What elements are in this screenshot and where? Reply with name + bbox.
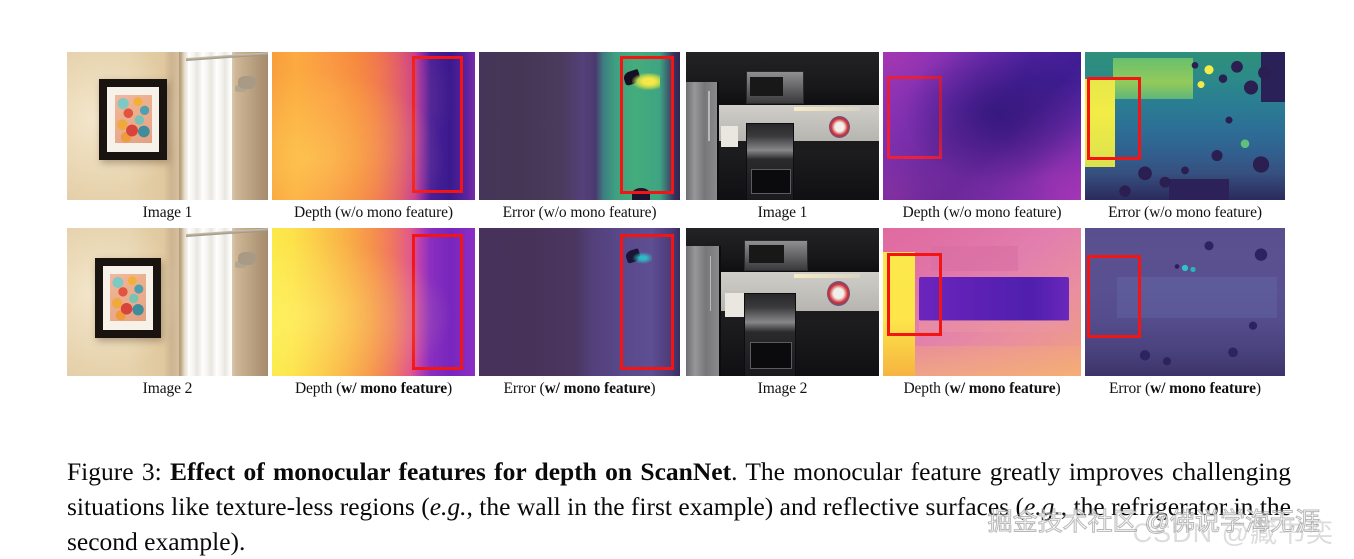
panel-caption-error-wo-mono-kitchen: Error (w/o mono feature) — [1085, 200, 1285, 224]
panel-grid: Image 1 Depth (w/o mono feature) Error (… — [67, 52, 1288, 400]
caption-bold: w/ mono feature — [1150, 380, 1256, 397]
panel-caption-error-w-mono-bathroom: Error (w/ mono feature) — [479, 376, 680, 400]
depth-refrigerator-near — [883, 252, 915, 376]
figure-body-2: , the wall in the first example) and ref… — [467, 492, 1024, 521]
figure-eg-2: e.g. — [1024, 492, 1061, 521]
microwave-door — [749, 245, 785, 263]
caption-bold: w/ mono feature — [341, 380, 447, 397]
panel-cell-depth-wo-mono-bathroom[interactable]: Depth (w/o mono feature) — [272, 52, 475, 224]
framed-artwork — [99, 79, 167, 160]
panel-cell-depth-wo-mono-kitchen[interactable]: Depth (w/o mono feature) — [883, 52, 1081, 224]
panel-cell-depth-w-mono-bathroom[interactable]: Depth (w/ mono feature) — [272, 228, 475, 400]
artwork-canvas — [110, 274, 146, 321]
artwork-mat — [107, 87, 159, 152]
caption-prefix: Depth ( — [903, 380, 949, 397]
image-2-bathroom-photo[interactable] — [67, 228, 268, 376]
error-w-mono-kitchen-heatmap[interactable] — [1085, 228, 1285, 376]
depth-countertop — [919, 320, 1073, 332]
microwave — [746, 71, 804, 104]
depth-far-cabinets — [919, 277, 1069, 321]
figure-title: Effect of monocular features for depth o… — [170, 457, 731, 486]
figure-3-root: Image 1 Depth (w/o mono feature) Error (… — [0, 0, 1354, 552]
microwave-door — [750, 77, 782, 96]
caption-suffix: ) — [447, 380, 452, 397]
refrigerator — [686, 246, 721, 376]
error-dark-artifact-bottom — [632, 188, 650, 200]
error-speckle-noise — [1085, 228, 1285, 376]
red-highlight-box — [887, 76, 942, 159]
oven-window — [750, 342, 792, 369]
panel-caption-image-2-bathroom: Image 2 — [67, 376, 268, 400]
panel-caption-depth-wo-mono-kitchen: Depth (w/o mono feature) — [883, 200, 1081, 224]
panel-row-2: Image 2 Depth (w/ mono feature) Error (w… — [67, 228, 1288, 400]
depth-upper-cabinets — [931, 246, 1018, 271]
panel-cell-error-w-mono-kitchen[interactable]: Error (w/ mono feature) — [1085, 228, 1285, 400]
image-2-kitchen-photo[interactable] — [686, 228, 879, 376]
depth-w-mono-kitchen-heatmap[interactable] — [883, 228, 1081, 376]
paper-towel-roll — [721, 126, 738, 147]
caption-prefix: Depth ( — [295, 380, 341, 397]
panel-cell-image-2-bathroom[interactable]: Image 2 — [67, 228, 268, 400]
error-hotspot — [632, 73, 660, 91]
error-speckle-noise — [1085, 52, 1285, 200]
artwork-mat — [103, 266, 153, 330]
wall-corner — [179, 228, 184, 376]
figure-caption: Figure 3: Effect of monocular features f… — [67, 454, 1291, 559]
depth-w-mono-bathroom-heatmap[interactable] — [272, 228, 475, 376]
microwave — [744, 240, 808, 272]
shower-tile-wall — [232, 228, 268, 376]
error-wo-mono-bathroom-heatmap[interactable] — [479, 52, 680, 200]
error-hotspot — [632, 252, 652, 264]
artwork-canvas — [115, 95, 152, 143]
depth-wo-mono-kitchen-heatmap[interactable] — [883, 52, 1081, 200]
panel-caption-depth-w-mono-kitchen: Depth (w/ mono feature) — [883, 376, 1081, 400]
panel-caption-error-wo-mono-bathroom: Error (w/o mono feature) — [479, 200, 680, 224]
panel-caption-image-1-bathroom: Image 1 — [67, 200, 268, 224]
shower-head-icon — [238, 252, 256, 265]
refrigerator-handle — [710, 256, 712, 311]
red-highlight-box — [412, 234, 463, 370]
caption-prefix: Error ( — [1109, 380, 1150, 397]
panel-caption-image-2-kitchen: Image 2 — [686, 376, 879, 400]
panel-caption-depth-w-mono-bathroom: Depth (w/ mono feature) — [272, 376, 475, 400]
caption-suffix: ) — [1056, 380, 1061, 397]
depth-wo-mono-bathroom-heatmap[interactable] — [272, 52, 475, 200]
red-highlight-box — [412, 56, 463, 192]
caption-suffix: ) — [1256, 380, 1261, 397]
image-1-kitchen-photo[interactable] — [686, 52, 879, 200]
panel-cell-depth-w-mono-kitchen[interactable]: Depth (w/ mono feature) — [883, 228, 1081, 400]
panel-row-1: Image 1 Depth (w/o mono feature) Error (… — [67, 52, 1288, 224]
caption-suffix: ) — [650, 380, 655, 397]
shower-tile-wall — [232, 52, 268, 200]
panel-cell-image-1-bathroom[interactable]: Image 1 — [67, 52, 268, 224]
under-cabinet-light — [794, 274, 860, 278]
caption-bold: w/ mono feature — [950, 380, 1056, 397]
panel-cell-error-wo-mono-bathroom[interactable]: Error (w/o mono feature) — [479, 52, 680, 224]
panel-caption-depth-wo-mono-bathroom: Depth (w/o mono feature) — [272, 200, 475, 224]
stove-range — [746, 123, 794, 200]
under-cabinet-light — [794, 107, 860, 111]
refrigerator-handle — [708, 91, 710, 141]
panel-cell-image-1-kitchen[interactable]: Image 1 — [686, 52, 879, 224]
panel-cell-image-2-kitchen[interactable]: Image 2 — [686, 228, 879, 400]
refrigerator — [686, 82, 719, 200]
framed-artwork — [95, 258, 161, 338]
panel-caption-error-w-mono-kitchen: Error (w/ mono feature) — [1085, 376, 1285, 400]
caption-bold: w/ mono feature — [545, 380, 651, 397]
wall-corner — [179, 52, 184, 200]
paper-towel-roll — [725, 293, 744, 317]
error-wo-mono-kitchen-heatmap[interactable] — [1085, 52, 1285, 200]
figure-label: Figure 3: — [67, 457, 162, 486]
figure-eg-1: e.g. — [430, 492, 467, 521]
shower-curtain — [188, 228, 232, 376]
shower-curtain — [188, 52, 232, 200]
caption-prefix: Error ( — [504, 380, 545, 397]
panel-caption-image-1-kitchen: Image 1 — [686, 200, 879, 224]
stove-range — [744, 293, 796, 376]
shower-head-icon — [238, 76, 256, 89]
oven-window — [751, 169, 790, 194]
error-w-mono-bathroom-heatmap[interactable] — [479, 228, 680, 376]
image-1-bathroom-photo[interactable] — [67, 52, 268, 200]
decorative-plate — [829, 116, 850, 138]
panel-cell-error-w-mono-bathroom[interactable]: Error (w/ mono feature) — [479, 228, 680, 400]
panel-cell-error-wo-mono-kitchen[interactable]: Error (w/o mono feature) — [1085, 52, 1285, 224]
